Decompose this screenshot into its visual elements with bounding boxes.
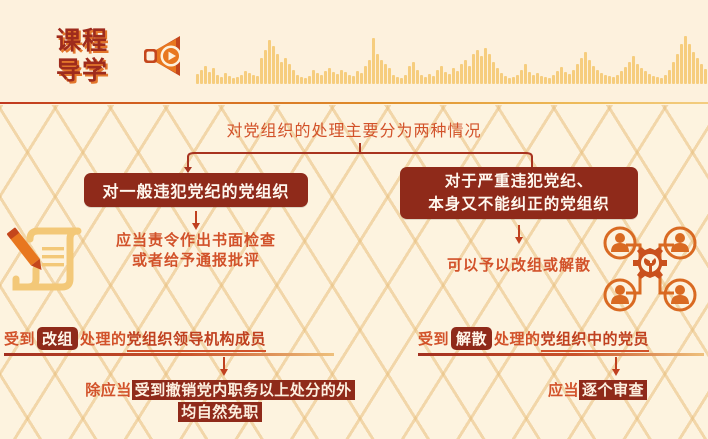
left-outcome-highlight-1: 受到撤销党内职务以上处分的外: [132, 380, 355, 400]
waveform-bar: [220, 77, 223, 84]
waveform-bar: [412, 62, 415, 84]
left-branch-box: 对一般违犯党纪的党组织: [84, 173, 308, 207]
waveform-bar: [532, 75, 535, 84]
waveform-bar: [368, 60, 371, 84]
waveform-bar: [564, 72, 567, 84]
scroll-pencil-icon: [6, 217, 90, 303]
waveform-bar: [460, 64, 463, 84]
waveform-bar: [296, 75, 299, 84]
left-outcome-highlight-2: 均自然免职: [178, 402, 262, 422]
right-outcome-highlight-1: 逐个审查: [579, 380, 647, 400]
waveform-bar: [304, 78, 307, 84]
right-branch-box: 对于严重违犯党纪、 本身又不能纠正的党组织: [400, 167, 638, 219]
waveform-bar: [388, 68, 391, 84]
waveform-bar: [524, 64, 527, 84]
waveform-bar: [232, 78, 235, 84]
waveform-bar: [700, 64, 703, 84]
waveform-bar: [264, 50, 267, 84]
waveform-bar: [340, 70, 343, 84]
waveform-bar: [208, 72, 211, 84]
waveform-bar: [424, 77, 427, 84]
waveform-bar: [528, 72, 531, 84]
waveform-bar: [348, 75, 351, 84]
waveform-bar: [684, 36, 687, 84]
waveform-bar: [392, 75, 395, 84]
waveform-bar: [668, 70, 671, 84]
waveform-bar: [480, 56, 483, 84]
left-measure-line-2: 或者给予通报批评: [84, 250, 308, 270]
waveform-bar: [676, 54, 679, 84]
waveform-bar: [456, 71, 459, 84]
waveform-bar: [472, 54, 475, 84]
waveform-bar: [648, 74, 651, 84]
waveform-bar: [552, 75, 555, 84]
waveform-bar: [224, 73, 227, 84]
waveform-bar: [516, 75, 519, 84]
waveform-bar: [476, 50, 479, 84]
waveform-bar: [196, 74, 199, 84]
waveform-bar: [688, 44, 691, 84]
waveform-bar: [312, 70, 315, 84]
waveform-bar: [492, 62, 495, 84]
waveform-bar: [600, 73, 603, 84]
waveform-bar: [364, 66, 367, 84]
waveform-bar: [644, 71, 647, 84]
waveform-bar: [344, 72, 347, 84]
waveform-bar: [276, 54, 279, 84]
header-divider-rule: [0, 102, 708, 104]
waveform-bar: [592, 66, 595, 84]
waveform-bar: [584, 52, 587, 84]
waveform-bar: [356, 71, 359, 84]
waveform-bar: [544, 77, 547, 84]
waveform-bar: [396, 77, 399, 84]
waveform-bar: [556, 71, 559, 84]
waveform-bar: [212, 68, 215, 84]
waveform-bar: [628, 62, 631, 84]
people-gear-icon: [600, 223, 700, 315]
left-outcome-text: 除应当受到撤销党内职务以上处分的外 均自然免职: [40, 379, 400, 423]
waveform-bar: [704, 69, 707, 84]
waveform-bar: [504, 76, 507, 84]
waveform-bar: [468, 66, 471, 84]
waveform-bar: [228, 76, 231, 84]
audio-waveform-icon: [196, 22, 696, 84]
left-outcome-prefix: 除应当: [85, 381, 132, 399]
waveform-bar: [428, 74, 431, 84]
right-branch-box-line-1: 对于严重违犯党纪、: [445, 170, 594, 193]
main-content-area: 对党组织的处理主要分为两种情况 对一般违犯党纪的党组织 应当责令作出书面检查 或…: [0, 105, 708, 439]
right-outcome-line-1: 应当逐个审查: [490, 379, 705, 401]
waveform-bar: [580, 58, 583, 84]
waveform-bar: [240, 75, 243, 84]
waveform-bar: [352, 76, 355, 84]
left-outcome-line-1: 除应当受到撤销党内职务以上处分的外: [40, 379, 400, 401]
waveform-bar: [328, 68, 331, 84]
waveform-bar: [444, 72, 447, 84]
right-outcome-prefix: 应当: [548, 381, 579, 399]
waveform-bar: [576, 64, 579, 84]
waveform-bar: [268, 40, 271, 84]
waveform-bar: [484, 48, 487, 84]
waveform-bar: [692, 52, 695, 84]
waveform-bar: [660, 78, 663, 84]
right-arrow-down-2: [610, 357, 622, 377]
waveform-bar: [200, 70, 203, 84]
left-subject-badge: 改组: [37, 327, 78, 350]
waveform-bar: [400, 78, 403, 84]
waveform-bar: [260, 58, 263, 84]
waveform-bar: [672, 62, 675, 84]
waveform-bar: [452, 68, 455, 84]
waveform-bar: [216, 75, 219, 84]
left-arrow-down-1: [190, 211, 202, 231]
waveform-bar: [316, 73, 319, 84]
waveform-bar: [588, 60, 591, 84]
left-measure-text: 应当责令作出书面检查 或者给予通报批评: [84, 230, 308, 270]
waveform-bar: [256, 76, 259, 84]
waveform-bar: [336, 74, 339, 84]
waveform-bar: [204, 66, 207, 84]
course-guide-logo: 课程 导学: [56, 26, 136, 88]
waveform-bar: [640, 68, 643, 84]
waveform-bar: [284, 58, 287, 84]
page-title: 对党组织的处理主要分为两种情况: [0, 117, 708, 141]
waveform-bar: [384, 64, 387, 84]
waveform-bar: [376, 54, 379, 84]
waveform-bar: [404, 75, 407, 84]
waveform-bar: [360, 73, 363, 84]
right-subject-line: 受到解散处理的党组织中的党员: [418, 327, 649, 352]
waveform-bar: [408, 66, 411, 84]
waveform-bar: [300, 77, 303, 84]
waveform-bar: [320, 75, 323, 84]
left-arrow-down-2: [218, 357, 230, 377]
right-subject-prefix: 受到: [418, 330, 449, 348]
waveform-bar: [332, 72, 335, 84]
waveform-bar: [520, 70, 523, 84]
logo-line-2: 导学: [56, 56, 136, 86]
waveform-bar: [512, 77, 515, 84]
waveform-bar: [604, 75, 607, 84]
waveform-bar: [244, 71, 247, 84]
waveform-bar: [696, 58, 699, 84]
waveform-bar: [500, 73, 503, 84]
waveform-bar: [420, 75, 423, 84]
waveform-bar: [416, 70, 419, 84]
right-outcome-text: 应当逐个审查: [490, 379, 705, 401]
waveform-bar: [540, 76, 543, 84]
waveform-bar: [568, 74, 571, 84]
left-measure-line-1: 应当责令作出书面检查: [84, 230, 308, 250]
megaphone-icon: [140, 33, 188, 78]
right-subject-target: 党组织中的党员: [541, 328, 650, 352]
waveform-bar: [292, 70, 295, 84]
waveform-bar: [680, 44, 683, 84]
waveform-bar: [436, 70, 439, 84]
waveform-bar: [272, 46, 275, 84]
left-separator-rule: [4, 353, 334, 356]
right-separator-rule: [418, 353, 704, 356]
infographic-page: 课程 导学 对党组织的处理主要分为两种情况: [0, 0, 708, 439]
waveform-bar: [288, 64, 291, 84]
waveform-bar: [616, 75, 619, 84]
header-banner: 课程 导学: [0, 0, 708, 104]
waveform-bar: [624, 67, 627, 84]
waveform-bar: [632, 56, 635, 84]
waveform-bar: [252, 75, 255, 84]
waveform-bar: [372, 38, 375, 84]
waveform-bar: [440, 66, 443, 84]
waveform-bar: [652, 76, 655, 84]
waveform-bar: [488, 54, 491, 84]
left-outcome-line-2: 均自然免职: [40, 401, 400, 423]
right-subject-mid: 处理的: [494, 330, 541, 348]
waveform-bar: [608, 76, 611, 84]
left-subject-line: 受到改组处理的党组织领导机构成员: [4, 327, 266, 352]
waveform-bar: [496, 68, 499, 84]
left-subject-target: 党组织领导机构成员: [127, 328, 267, 352]
waveform-bar: [324, 71, 327, 84]
waveform-bar: [620, 71, 623, 84]
left-subject-mid: 处理的: [80, 330, 127, 348]
waveform-bar: [280, 62, 283, 84]
waveform-bar: [548, 78, 551, 84]
right-branch-box-line-2: 本身又不能纠正的党组织: [428, 193, 610, 216]
waveform-bar: [612, 77, 615, 84]
waveform-bar: [596, 70, 599, 84]
right-arrow-down-1: [513, 225, 525, 245]
right-subject-badge: 解散: [451, 327, 492, 350]
waveform-bar: [464, 60, 467, 84]
waveform-bar: [432, 76, 435, 84]
waveform-bar: [636, 64, 639, 84]
logo-line-1: 课程: [56, 26, 136, 56]
waveform-bar: [248, 73, 251, 84]
waveform-bar: [508, 78, 511, 84]
waveform-bar: [236, 77, 239, 84]
waveform-bar: [536, 73, 539, 84]
waveform-bar: [560, 67, 563, 84]
waveform-bar: [448, 74, 451, 84]
left-branch-box-label: 对一般违犯党纪的党组织: [102, 178, 289, 202]
waveform-bar: [656, 77, 659, 84]
waveform-bar: [664, 75, 667, 84]
waveform-bar: [380, 60, 383, 84]
waveform-bar: [572, 70, 575, 84]
waveform-bar: [308, 76, 311, 84]
left-subject-prefix: 受到: [4, 330, 35, 348]
